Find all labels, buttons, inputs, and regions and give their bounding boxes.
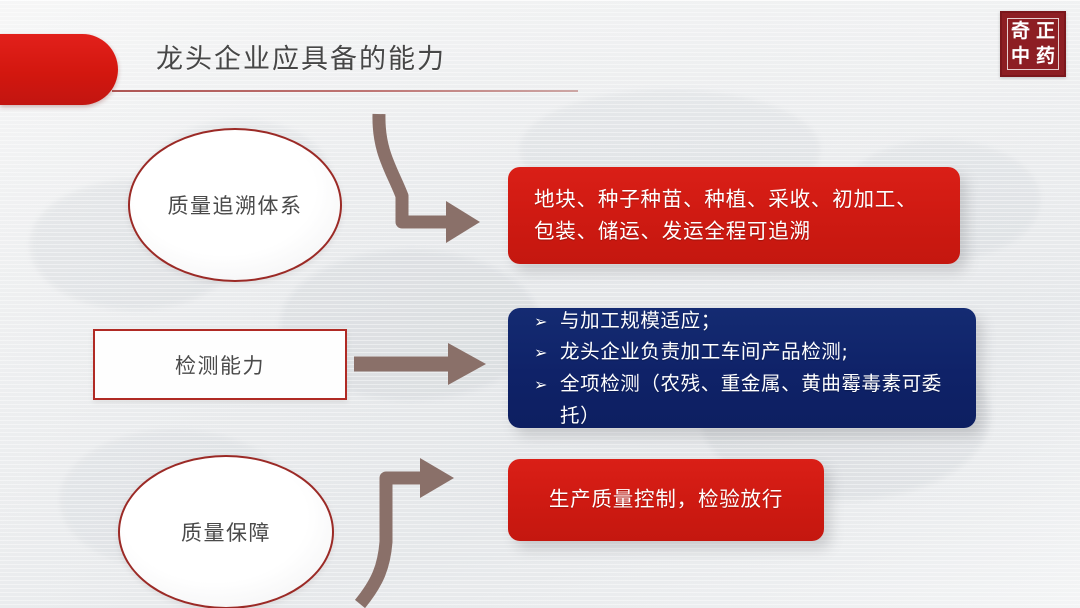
panel-bullet-list: ➢ 与加工规模适应； ➢ 龙头企业负责加工车间产品检测; ➢ 全项检测（农残、重… (508, 305, 976, 431)
header-accent-tab (0, 34, 118, 105)
list-item-text: 与加工规模适应； (560, 305, 721, 337)
logo-char: 正 (1036, 22, 1055, 41)
list-item: ➢ 龙头企业负责加工车间产品检测; (534, 336, 956, 368)
label-shape-quality-traceability[interactable]: 质量追溯体系 (128, 128, 342, 282)
arrow-elbow-down-right (334, 100, 524, 260)
logo-char: 中 (1011, 47, 1030, 66)
page-title: 龙头企业应具备的能力 (156, 37, 446, 76)
list-item-text: 全项检测（农残、重金属、黄曲霉毒素可委托） (560, 368, 956, 431)
slide-canvas: 龙头企业应具备的能力 奇 正 中 药 质量追溯体系 地块、种子种苗、种植、采收、… (0, 0, 1080, 608)
list-item: ➢ 与加工规模适应； (534, 305, 956, 337)
arrow-elbow-up-right (334, 446, 524, 608)
list-item-text: 龙头企业负责加工车间产品检测; (560, 336, 849, 368)
bullet-arrow-icon: ➢ (534, 309, 560, 335)
logo-char: 药 (1036, 47, 1055, 66)
logo-inner-frame: 奇 正 中 药 (1007, 18, 1059, 70)
label-text: 质量追溯体系 (168, 190, 303, 220)
list-item: ➢ 全项检测（农残、重金属、黄曲霉毒素可委托） (534, 368, 956, 431)
qizheng-zhongyao-logo: 奇 正 中 药 (1000, 11, 1066, 77)
bullet-arrow-icon: ➢ (534, 372, 560, 398)
header-divider (112, 90, 578, 92)
panel-text: 地块、种子种苗、种植、采收、初加工、 包装、储运、发运全程可追溯 (508, 184, 943, 246)
label-text: 检测能力 (175, 350, 265, 380)
label-shape-testing-capability[interactable]: 检测能力 (93, 329, 347, 400)
bullet-arrow-icon: ➢ (534, 340, 560, 366)
label-text: 质量保障 (181, 517, 271, 547)
panel-quality-control[interactable]: 生产质量控制，检验放行 (508, 459, 824, 541)
logo-char: 奇 (1011, 22, 1030, 41)
panel-testing-requirements[interactable]: ➢ 与加工规模适应； ➢ 龙头企业负责加工车间产品检测; ➢ 全项检测（农残、重… (508, 308, 976, 428)
panel-text: 生产质量控制，检验放行 (508, 484, 824, 515)
label-shape-quality-assurance[interactable]: 质量保障 (118, 455, 334, 608)
panel-traceability[interactable]: 地块、种子种苗、种植、采收、初加工、 包装、储运、发运全程可追溯 (508, 167, 960, 264)
